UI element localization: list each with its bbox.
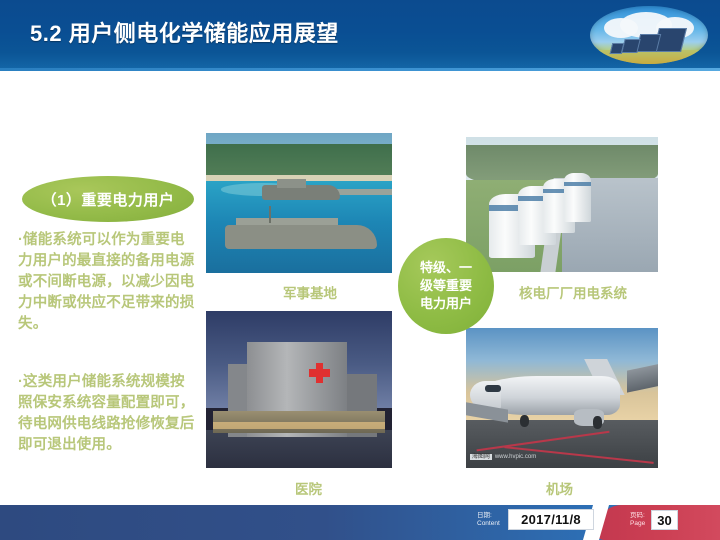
caption-nuclear-plant: 核电厂厂用电系统: [519, 282, 627, 302]
facade-lights: [213, 422, 384, 428]
landing-gear: [520, 415, 530, 428]
cockpit-window: [485, 385, 500, 392]
page-title: 5.2 用户侧电化学储能应用展望: [30, 16, 339, 48]
footer-page-value-box: 30: [651, 510, 678, 530]
solar-panel-logo-icon: [590, 6, 708, 64]
footer-page-label: 页码: Page: [630, 512, 645, 528]
photo-hospital: [206, 311, 392, 468]
footer-date-label-en: Content: [477, 520, 500, 528]
watermark-cn: 海图网: [470, 454, 492, 460]
caption-airport: 机场: [546, 478, 573, 498]
warship-shape: [225, 225, 378, 249]
section-badge-important-power-users: （1）重要电力用户: [22, 176, 194, 222]
photo-military-base: [206, 133, 392, 273]
section-badge-label: （1）重要电力用户: [42, 189, 175, 210]
cloud-shape: [604, 18, 638, 38]
footer-page-label-cn: 页码:: [630, 512, 645, 520]
header-underline: [0, 68, 720, 71]
footer-page-value: 30: [657, 513, 671, 528]
center-badge-line-1: 特级、一: [411, 259, 481, 277]
body-paragraph-2: ·这类用户储能系统规模按照保安系统容量配置即可，待电网供电线路抢修恢复后即可退出…: [18, 372, 198, 456]
footer-date-label-cn: 日期:: [477, 512, 500, 520]
tower-band: [564, 182, 591, 186]
landing-gear: [593, 416, 603, 429]
caption-hospital: 医院: [295, 478, 322, 498]
footer-date-value-box: 2017/11/8: [508, 509, 594, 530]
footer-date-value: 2017/11/8: [521, 512, 581, 527]
footer-date-label: 日期: Content: [477, 512, 500, 528]
mast-shape: [269, 206, 271, 223]
cooling-tower-shape: [564, 173, 591, 222]
photo-airport: 海图网www.hvpic.com: [466, 328, 658, 468]
photo-nuclear-plant: [466, 137, 658, 272]
ground-strip: [590, 50, 708, 64]
red-cross-icon: [309, 369, 329, 377]
caption-military-base: 军事基地: [283, 282, 337, 302]
footer-page-label-en: Page: [630, 520, 645, 528]
center-badge-important-users: 特级、一 级等重要 电力用户: [398, 238, 494, 334]
body-paragraph-1: ·储能系统可以作为重要电力用户的最直接的备用电源或不间断电源，以减少因电力中断或…: [18, 230, 198, 335]
center-badge-line-3: 电力用户: [411, 295, 481, 313]
center-badge-text: 特级、一 级等重要 电力用户: [411, 259, 481, 313]
center-badge-line-2: 级等重要: [411, 277, 481, 295]
slide-canvas: 5.2 用户侧电化学储能应用展望 （1）重要电力用户 ·储能系统可以作为重要电力…: [0, 0, 720, 540]
warship-superstructure: [277, 179, 307, 187]
watermark-url: www.hvpic.com: [495, 454, 536, 460]
image-watermark: 海图网www.hvpic.com: [470, 451, 536, 460]
